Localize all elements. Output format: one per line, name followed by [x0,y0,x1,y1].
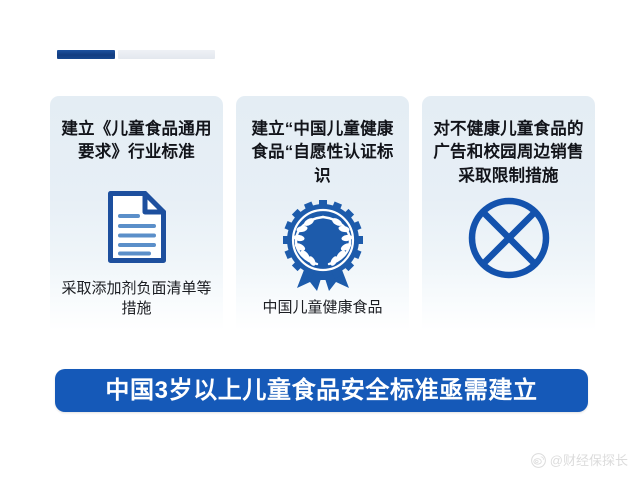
accent-rule-dark-segment [57,50,115,59]
headline-banner: 中国3岁以上儿童食品安全标准亟需建立 [55,369,588,412]
watermark: @财经保探长 [531,453,628,468]
slide-canvas: 建立《儿童食品通用要求》行业标准 采取添加剂负面清单等措施 建 [0,0,640,480]
card-title: 建立“中国儿童健康食品“自愿性认证标识 [246,118,399,188]
card-caption: 中国儿童健康食品 [246,298,399,318]
weibo-logo-icon [531,453,546,468]
card-advertising-restriction: 对不健康儿童食品的广告和校园周边销售采取限制措施 [422,96,595,351]
card-title: 对不健康儿童食品的广告和校园周边销售采取限制措施 [432,118,585,188]
document-icon [104,179,170,275]
card-title: 建立《儿童食品通用要求》行业标准 [60,118,213,165]
card-voluntary-certification: 建立“中国儿童健康食品“自愿性认证标识 [236,96,409,351]
accent-rule-light-segment [118,50,215,59]
card-industry-standard: 建立《儿童食品通用要求》行业标准 采取添加剂负面清单等措施 [50,96,223,351]
prohibition-circle-x-icon [466,190,552,286]
cards-row: 建立《儿童食品通用要求》行业标准 采取添加剂负面清单等措施 建 [50,96,595,351]
watermark-text: @财经保探长 [550,454,628,467]
headline-banner-text: 中国3岁以上儿童食品安全标准亟需建立 [105,379,537,403]
accent-rule [57,50,215,59]
award-badge-icon [281,198,365,294]
card-caption: 采取添加剂负面清单等措施 [60,279,213,320]
